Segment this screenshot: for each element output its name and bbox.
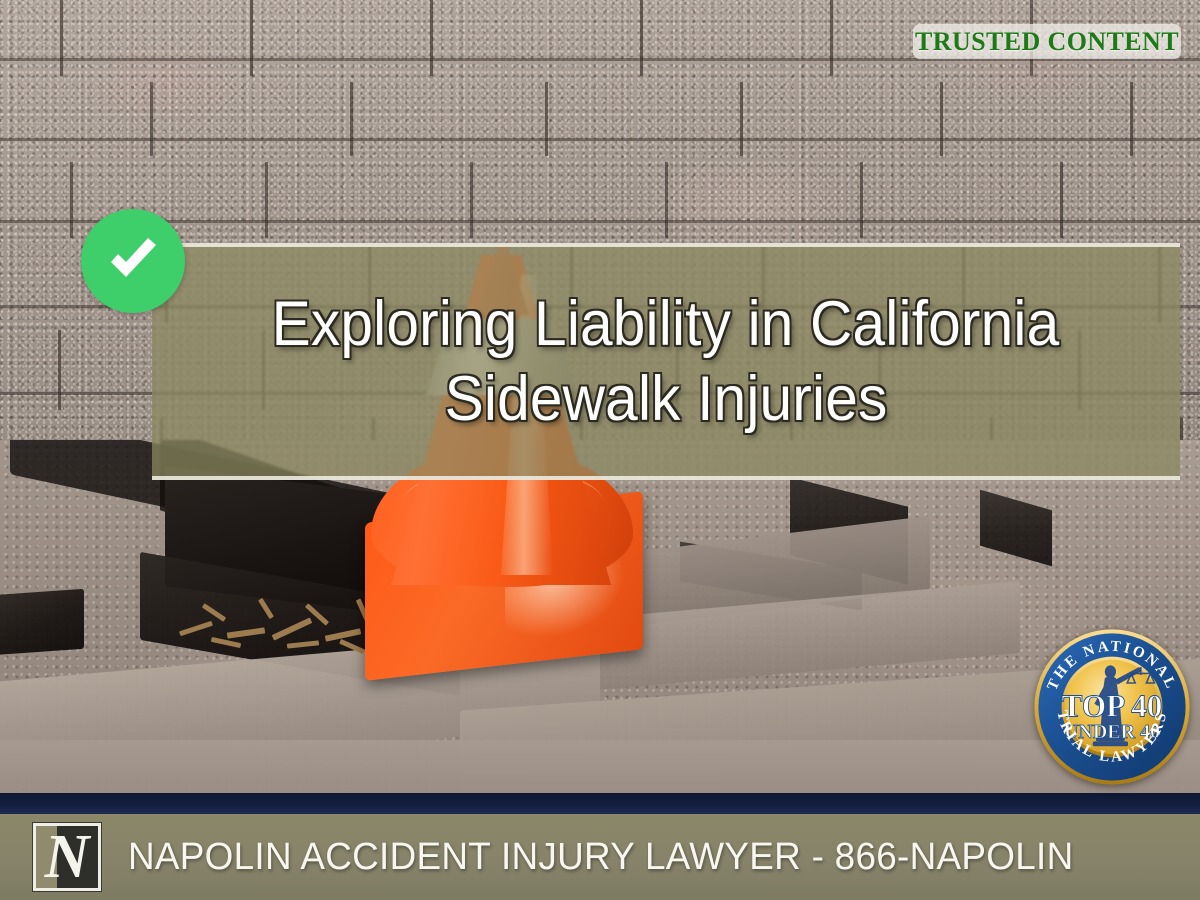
sinkhole-left-notch — [0, 589, 84, 655]
slab-gap-right-b — [980, 490, 1052, 567]
seal-trademark: TM — [1152, 737, 1160, 743]
title-line-2: Sidewalk Injuries — [445, 367, 888, 431]
logo-letter: N — [40, 828, 95, 885]
title-line-1: Exploring Liability in California — [272, 292, 1060, 356]
footer-bar: N NAPOLIN ACCIDENT INJURY LAWYER - 866-N… — [0, 814, 1200, 900]
trusted-content-label: TRUSTED CONTENT — [915, 27, 1179, 57]
seal-center-top40: TOP 40 — [1062, 689, 1163, 724]
trusted-content-badge: TRUSTED CONTENT — [913, 24, 1181, 59]
title-panel: Exploring Liability in California Sidewa… — [152, 243, 1180, 480]
featured-image-graphic: TRUSTED CONTENT Exploring Liability in C… — [0, 0, 1200, 900]
displaced-slab-e — [0, 740, 1200, 793]
firm-name-and-phone: NAPOLIN ACCIDENT INJURY LAWYER - 866-NAP… — [128, 836, 1073, 879]
footer-accent-strip — [0, 793, 1200, 814]
top-40-under-40-award-seal-icon: TOP 40 UNDER 40 THE NATIONAL TRIAL LAWYE… — [1032, 627, 1192, 787]
napolin-logo: N — [33, 823, 101, 891]
green-check-circle-icon — [81, 209, 185, 313]
